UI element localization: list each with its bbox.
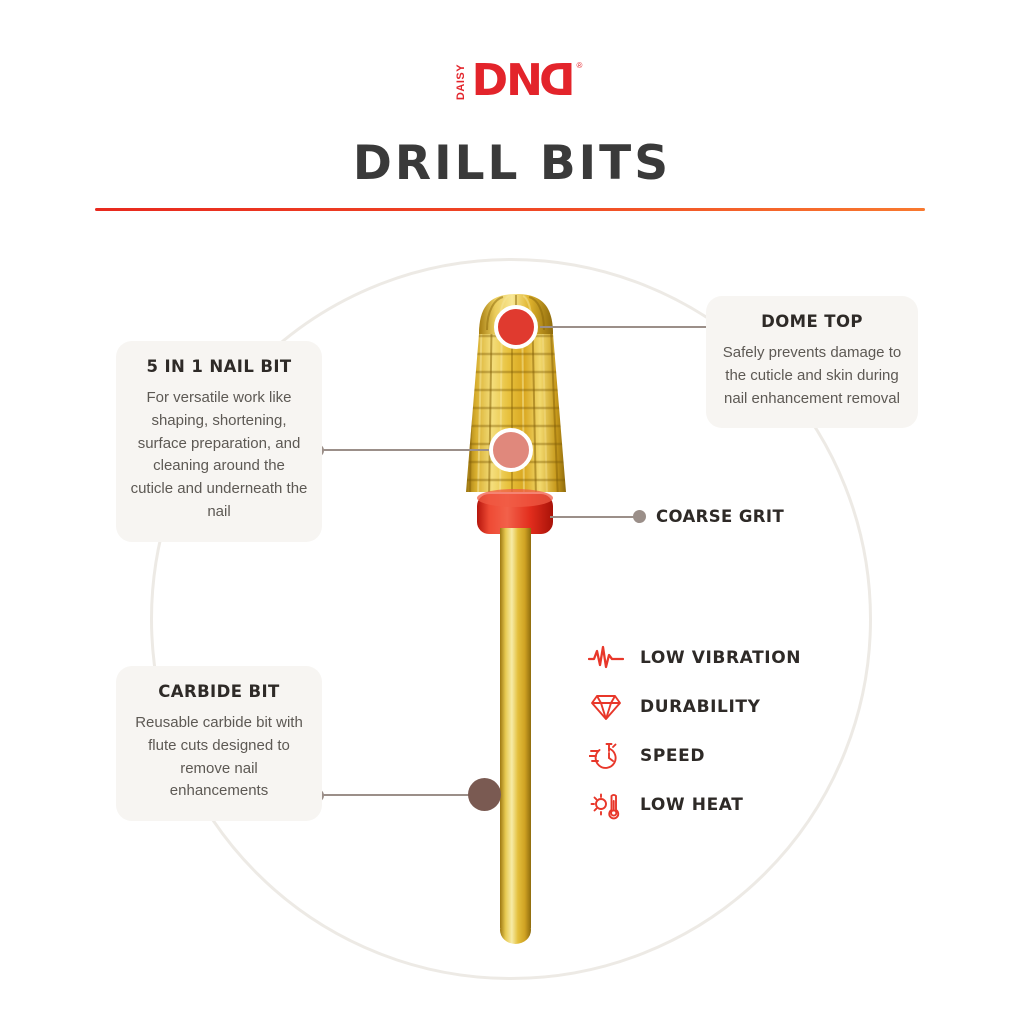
thermometer-sun-icon (586, 788, 626, 822)
callout-body-five-in-one: For versatile work like shaping, shorten… (130, 387, 308, 524)
leader-line-five-in-one (318, 449, 508, 451)
feature-row-speed: SPEED (586, 731, 801, 780)
callout-title-carbide-bit: CARBIDE BIT (130, 682, 308, 701)
infographic-page: DAISY DND ® DRILL BITS (0, 0, 1024, 1024)
callout-card-five-in-one: 5 IN 1 NAIL BIT For versatile work like … (116, 341, 322, 542)
leader-dot-coarse-grit (633, 510, 646, 523)
callout-title-five-in-one: 5 IN 1 NAIL BIT (130, 357, 308, 376)
marker-carbide (468, 778, 501, 811)
marker-dome-top (494, 305, 538, 349)
leader-line-dome-top (540, 326, 720, 328)
callout-title-dome-top: DOME TOP (720, 312, 904, 331)
feature-list: LOW VIBRATION DURABILITY (586, 633, 801, 829)
pulse-wave-icon (586, 641, 626, 675)
leader-line-coarse-grit (550, 516, 640, 518)
callout-card-dome-top: DOME TOP Safely prevents damage to the c… (706, 296, 918, 428)
feature-label-durability: DURABILITY (640, 697, 761, 717)
callout-body-carbide-bit: Reusable carbide bit with flute cuts des… (130, 712, 308, 803)
feature-row-durability: DURABILITY (586, 682, 801, 731)
feature-row-low-vibration: LOW VIBRATION (586, 633, 801, 682)
brand-dnd-part1: DN (472, 55, 541, 106)
callout-card-carbide-bit: CARBIDE BIT Reusable carbide bit with fl… (116, 666, 322, 821)
feature-row-low-heat: LOW HEAT (586, 780, 801, 829)
brand-dnd-part2-mirrored: D (541, 59, 576, 103)
page-title: DRILL BITS (0, 136, 1024, 191)
feature-label-low-vibration: LOW VIBRATION (640, 648, 801, 668)
registered-mark: ® (577, 61, 583, 70)
brand-dnd-text: DND (472, 59, 576, 103)
brand-logo: DAISY DND ® (0, 58, 1024, 104)
stopwatch-icon (586, 739, 626, 773)
diamond-icon (586, 690, 626, 724)
callout-body-dome-top: Safely prevents damage to the cuticle an… (720, 342, 904, 410)
marker-five-in-one (489, 428, 533, 472)
feature-label-speed: SPEED (640, 746, 705, 766)
feature-label-low-heat: LOW HEAT (640, 795, 743, 815)
leader-line-carbide (318, 794, 476, 796)
brand-daisy-text: DAISY (455, 64, 467, 100)
label-coarse-grit: COARSE GRIT (656, 507, 784, 526)
title-divider-rule (95, 208, 925, 211)
